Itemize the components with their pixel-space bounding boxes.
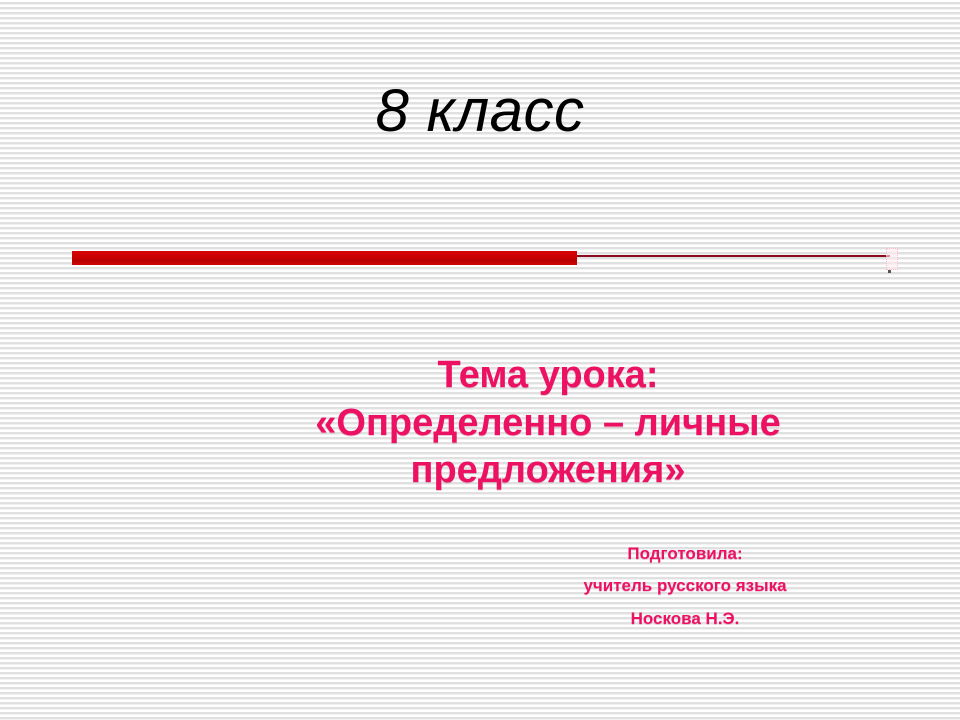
divider-thin-rule [577,255,890,257]
slide-title: 8 класс [0,78,960,144]
divider-red-bar [72,251,577,265]
author-name: Носкова Н.Э. [485,603,885,635]
divider-anchor-dot [888,270,891,273]
lesson-topic-label: Тема урока: [178,352,918,400]
lesson-topic-line-2: предложения» [178,447,918,495]
prepared-by-label: Подготовила: [485,538,885,570]
divider-resize-handle[interactable] [886,248,898,270]
lesson-topic-line-1: «Определенно – личные [178,400,918,448]
lesson-topic-block: Тема урока: «Определенно – личные предло… [178,352,918,495]
presentation-slide: 8 класс Тема урока: «Определенно – личны… [0,0,960,720]
author-role: учитель русского языка [485,570,885,602]
author-credit-block: Подготовила: учитель русского языка Носк… [485,538,885,635]
title-divider [72,248,896,268]
